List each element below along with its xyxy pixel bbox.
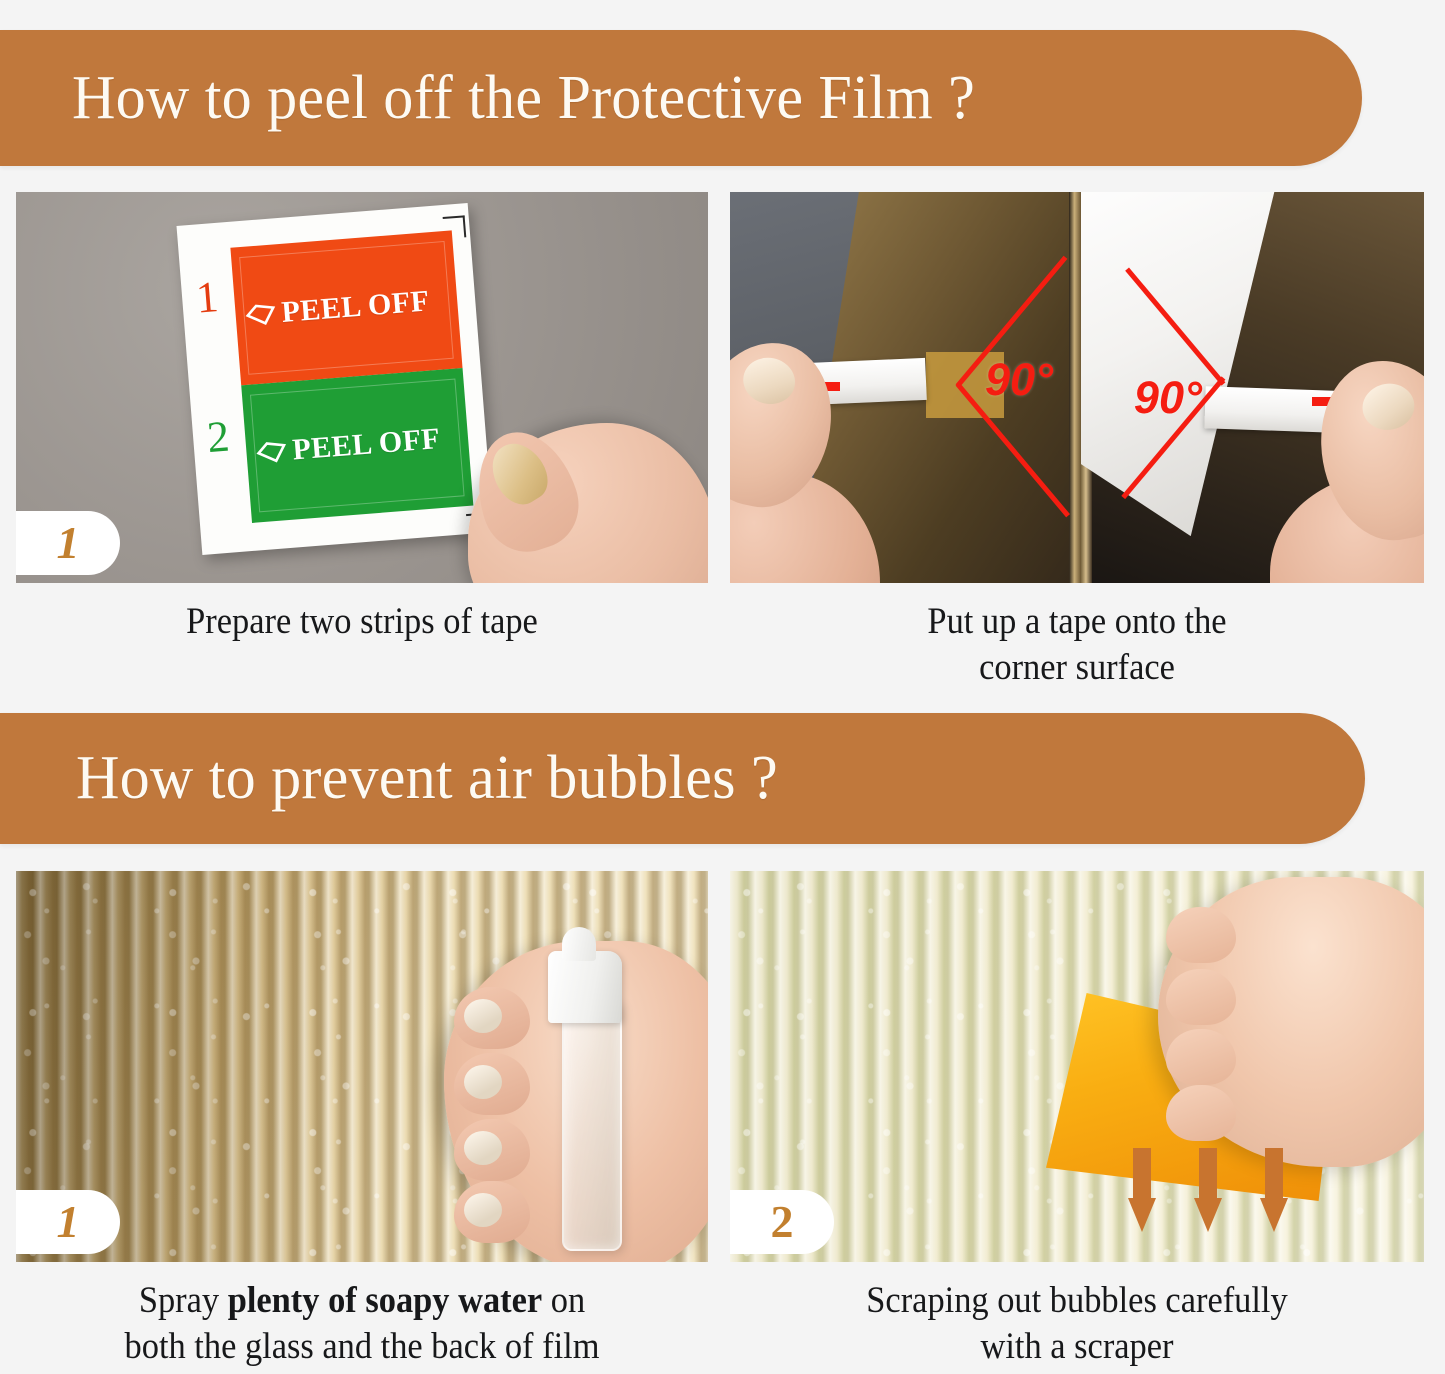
hand-holding-card — [468, 423, 708, 583]
down-arrow-icon — [1128, 1148, 1156, 1232]
arrow-head — [1128, 1198, 1156, 1232]
card-step-number-1: 1 — [194, 271, 220, 324]
caption-line: both the glass and the back of film — [40, 1324, 684, 1370]
step-badge-1: 1 — [16, 1190, 120, 1254]
photo-prepare-two-strips-of-tape: 1 2 PEEL OFF PEEL OFF — [16, 192, 708, 583]
spray-bottle-body — [562, 1001, 622, 1251]
step-badge-number: 1 — [57, 520, 80, 566]
peel-off-label-green: PEEL OFF — [241, 368, 473, 523]
finger-3 — [454, 1119, 530, 1181]
spray-bottle-pump — [548, 951, 622, 1023]
direction-arrows-group — [1128, 1148, 1288, 1232]
peel-off-label-orange: PEEL OFF — [230, 230, 462, 385]
step-card-bubble-1: 1 Spray plenty of soapy water on both th… — [16, 871, 708, 1370]
peel-off-label-stack: PEEL OFF PEEL OFF — [230, 230, 473, 523]
caption-line: Spray plenty of soapy water on — [40, 1278, 684, 1324]
steps-row-peel-off: 1 2 PEEL OFF PEEL OFF — [0, 192, 1445, 691]
fingernail — [464, 1131, 502, 1165]
peel-off-text-orange: PEEL OFF — [280, 284, 430, 330]
caption-text-pre: Spray — [139, 1280, 228, 1321]
arrow-head — [1260, 1198, 1288, 1232]
fingernail — [464, 999, 502, 1033]
angle-label-left: 90° — [985, 354, 1053, 406]
caption-line: with a scraper — [754, 1324, 1399, 1370]
finger-4 — [454, 1181, 530, 1243]
finger-1 — [1166, 907, 1236, 963]
fingernail-left — [739, 353, 799, 409]
caption-line: Put up a tape onto the — [754, 599, 1399, 645]
section-banner-air-bubbles: How to prevent air bubbles ? — [0, 713, 1365, 844]
arrow-head — [1194, 1198, 1222, 1232]
corner-left-half: 90° — [730, 192, 1081, 583]
corner-scene: 90° 90° — [730, 192, 1424, 583]
finger-2 — [454, 1053, 530, 1115]
caption-line: Prepare two strips of tape — [40, 599, 684, 645]
corner-right-half: 90° — [1081, 192, 1424, 583]
step-card-bubble-2: 2 Scraping out bubbles carefully with a … — [730, 871, 1424, 1370]
peel-tag-icon — [254, 438, 290, 467]
photo-tape-on-corner-surface: 90° 90° — [730, 192, 1424, 583]
angle-label-right: 90° — [1134, 372, 1202, 424]
step-badge-1: 1 — [16, 511, 120, 575]
step-badge-number: 2 — [771, 1199, 794, 1245]
photo-spray-soapy-water: 1 — [16, 871, 708, 1262]
caption-line: corner surface — [754, 645, 1399, 691]
caption-text-bold: plenty of soapy water — [228, 1280, 542, 1321]
photo-scraping-bubbles: 2 — [730, 871, 1424, 1262]
step-card-peel-2: 90° 90° — [730, 192, 1424, 691]
section-banner-peel-off: How to peel off the Protective Film ? — [0, 30, 1362, 166]
step-caption-spray-soapy-water: Spray plenty of soapy water on both the … — [40, 1278, 684, 1370]
hand-holding-spray-bottle — [444, 941, 708, 1262]
peel-off-text-green: PEEL OFF — [291, 422, 441, 468]
down-arrow-icon — [1260, 1148, 1288, 1232]
arrow-shaft — [1199, 1148, 1217, 1200]
down-arrow-icon — [1194, 1148, 1222, 1232]
finger-3 — [1166, 1029, 1236, 1085]
fingernail — [464, 1065, 502, 1099]
card-step-number-2: 2 — [205, 411, 231, 464]
fingernail — [482, 434, 557, 513]
step-caption-scraping-bubbles: Scraping out bubbles carefully with a sc… — [754, 1278, 1399, 1370]
steps-row-air-bubbles: 1 Spray plenty of soapy water on both th… — [0, 871, 1445, 1370]
metal-edge-strip — [1069, 192, 1081, 583]
step-caption-prepare-tape: Prepare two strips of tape — [40, 599, 684, 645]
peel-off-card: 1 2 PEEL OFF PEEL OFF — [177, 203, 494, 555]
step-caption-put-up-tape: Put up a tape onto the corner surface — [754, 599, 1399, 691]
step-badge-number: 1 — [57, 1199, 80, 1245]
fingernail-right — [1359, 380, 1418, 434]
caption-line: Scraping out bubbles carefully — [754, 1278, 1399, 1324]
hand-holding-scraper — [1158, 877, 1424, 1167]
peel-tag-icon — [243, 300, 279, 329]
finger-1 — [454, 987, 530, 1049]
banner-title-air-bubbles: How to prevent air bubbles ? — [76, 743, 778, 814]
step-card-peel-1: 1 2 PEEL OFF PEEL OFF — [16, 192, 708, 691]
step-badge-2: 2 — [730, 1190, 834, 1254]
spray-bottle-nozzle — [562, 927, 596, 961]
banner-title-peel-off: How to peel off the Protective Film ? — [72, 63, 975, 134]
finger-2 — [1166, 969, 1236, 1025]
caption-text-post: on — [542, 1280, 585, 1321]
arrow-shaft — [1265, 1148, 1283, 1200]
finger-4 — [1166, 1085, 1236, 1141]
arrow-shaft — [1133, 1148, 1151, 1200]
fingernail — [464, 1193, 502, 1227]
